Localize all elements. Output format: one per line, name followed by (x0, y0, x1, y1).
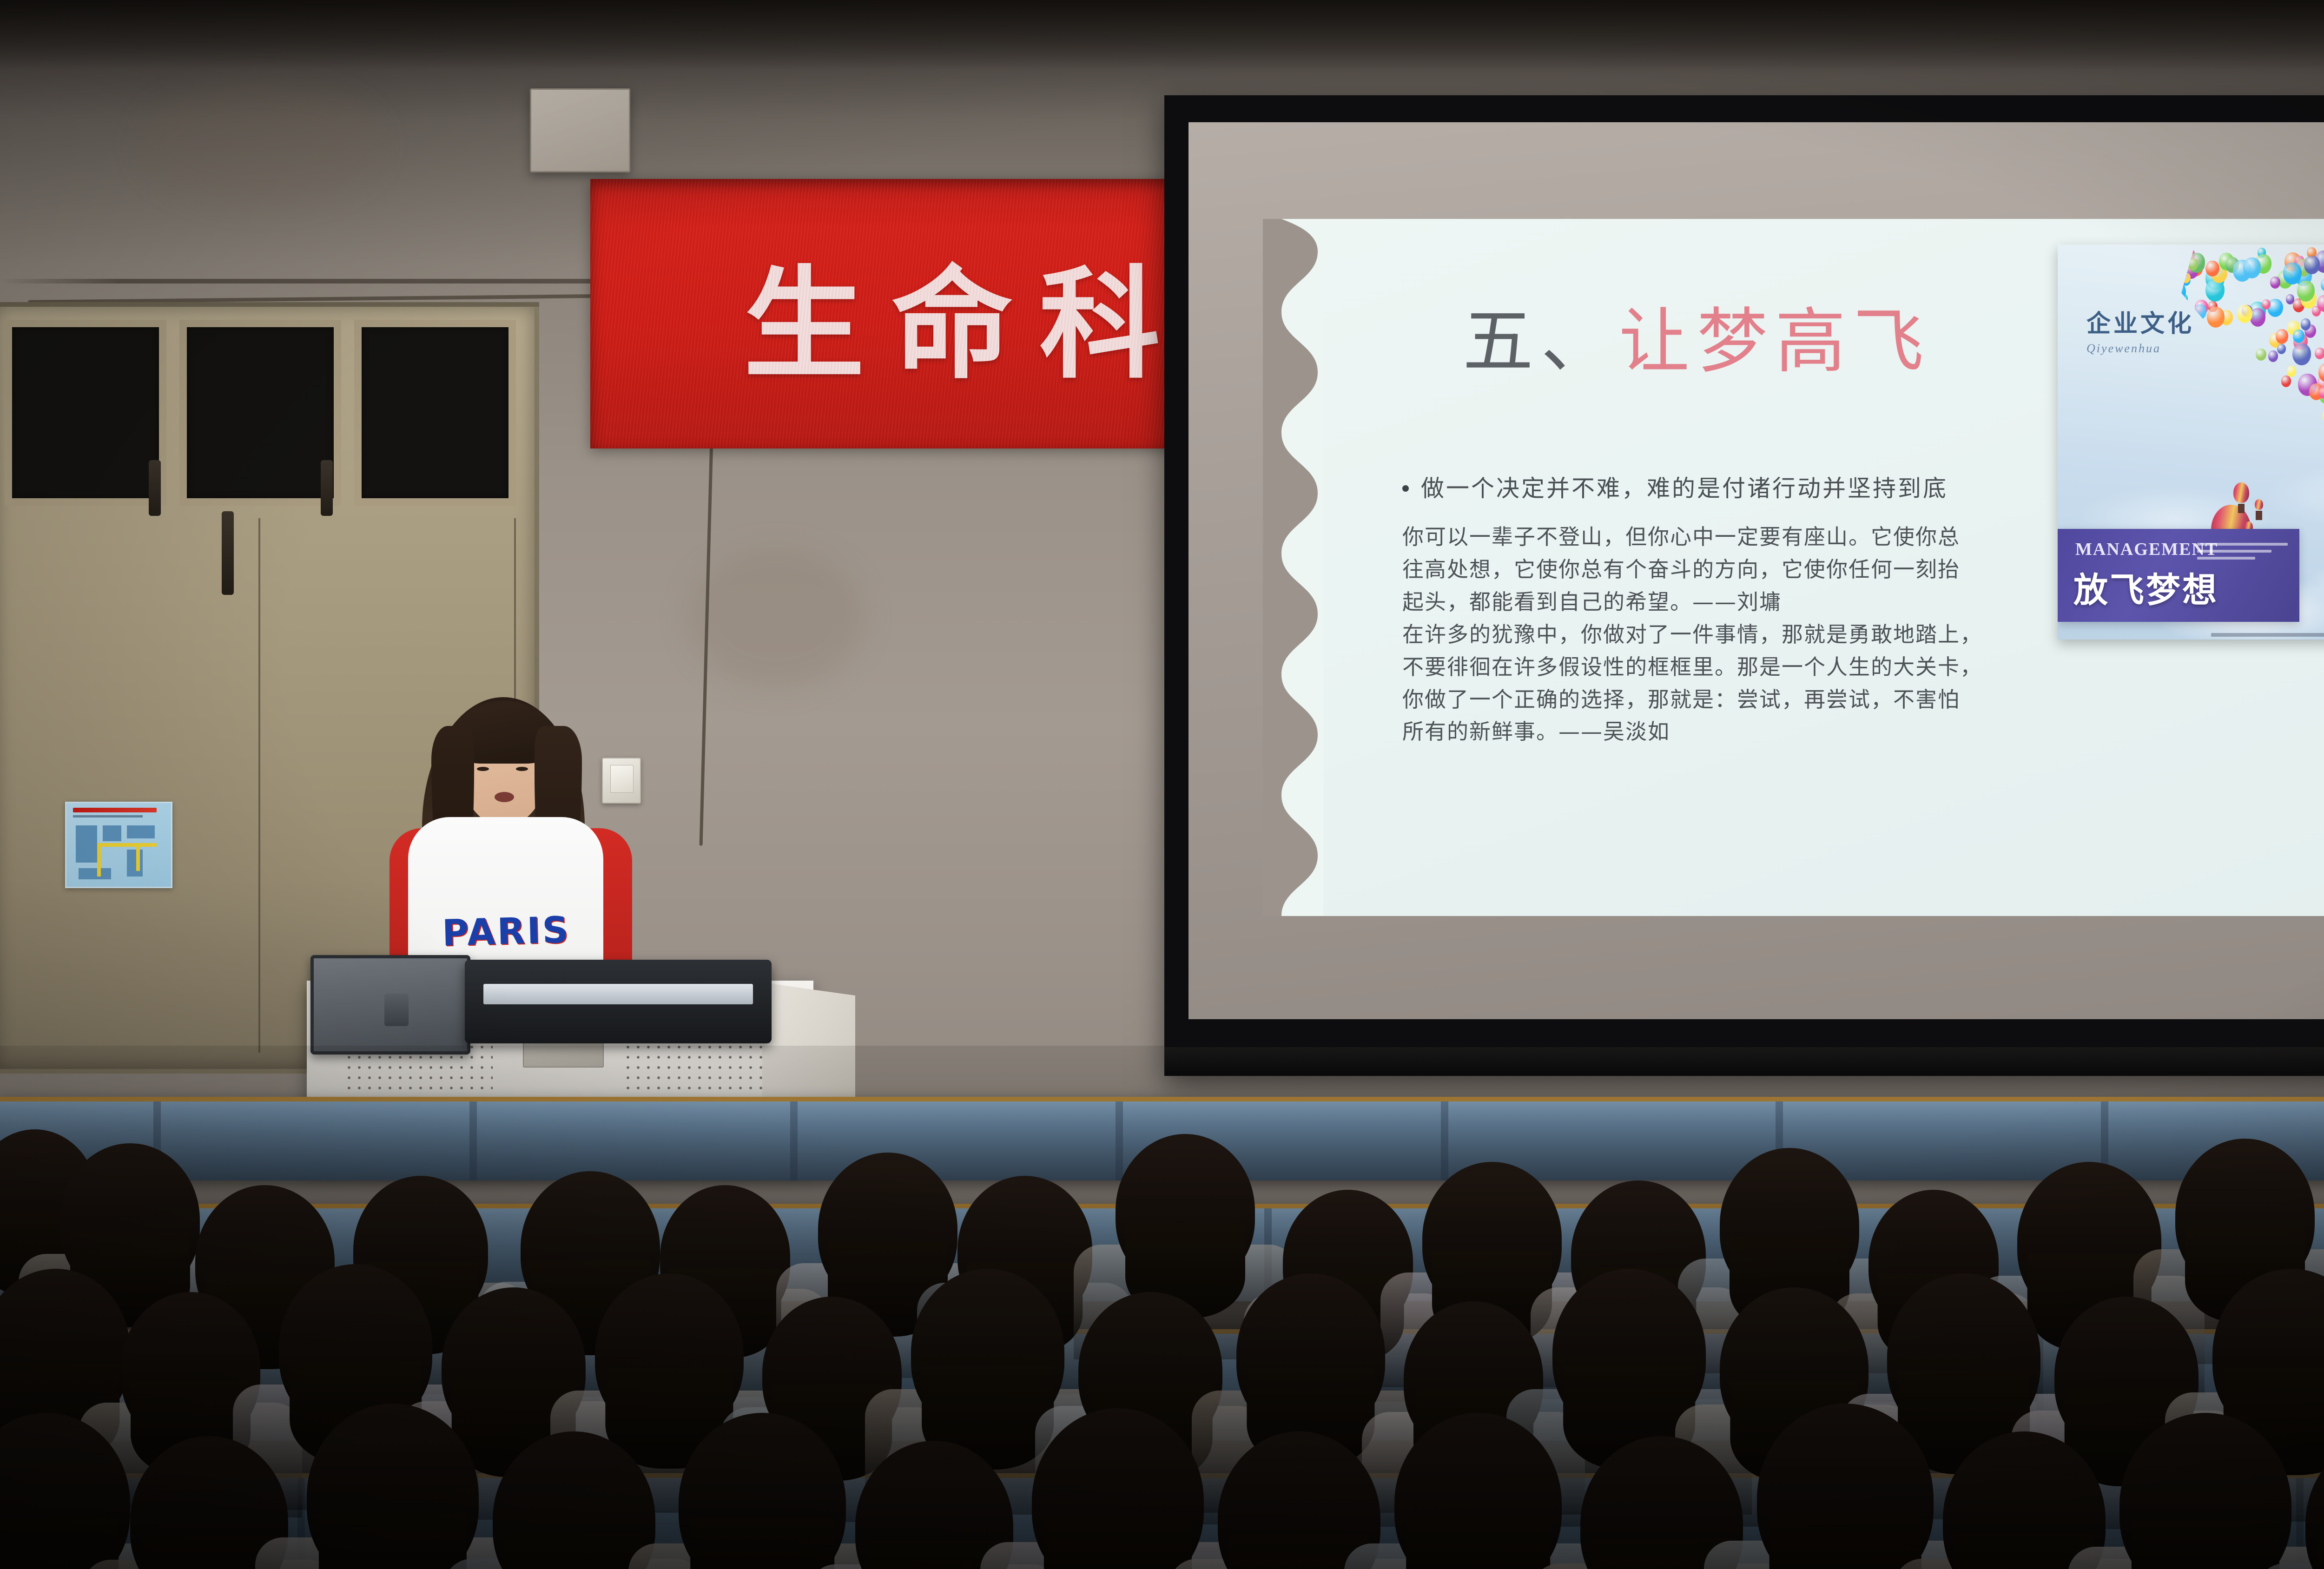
balloon (2182, 273, 2191, 283)
poster-banner-cn: 放飞梦想 (2073, 562, 2218, 612)
slide-paragraph-line: 你做了一个正确的选择，那就是：尝试，再尝试，不害怕 (1402, 684, 2192, 716)
balloon (2276, 329, 2288, 344)
balloon (2292, 343, 2311, 365)
balloon (2293, 330, 2304, 343)
evac-route (97, 843, 101, 877)
ceiling-vent (530, 88, 630, 172)
slide-paragraph-line: 不要徘徊在许多假设性的框框里。那是一个人生的大关卡， (1402, 651, 2192, 684)
balloon (2179, 294, 2188, 304)
balloon (2277, 344, 2286, 354)
bullet-dot-icon (1402, 485, 1409, 492)
audience-member-head (1422, 1162, 1562, 1315)
balloon (2157, 257, 2173, 277)
audience-member-hair (1769, 1514, 1921, 1569)
poster-banner: MANAGEMENT 放飞梦想 (2058, 529, 2299, 622)
audience-member-head (911, 1269, 1064, 1436)
balloon (2297, 281, 2315, 302)
poster-heading: 企业文化 Qiyewenhua (2086, 304, 2194, 356)
projection-surface: 五、让梦高飞 做一个决定并不难，难的是付诸行动并坚持到底 你可以一辈子不登山，但… (1188, 122, 2324, 1019)
slide-poster-image: 企业文化 Qiyewenhua MANAGEMENT 放飞梦想 (2058, 244, 2324, 639)
audience-member-head (1116, 1134, 1255, 1287)
balloon (2256, 349, 2266, 361)
balloon (2243, 257, 2261, 278)
slide-wavy-edge (1263, 219, 1323, 916)
audience-member-head (1236, 1273, 1385, 1436)
audience-member-hair (2132, 1521, 2279, 1569)
audience-member-hair (319, 1511, 467, 1569)
transom-window (354, 320, 516, 506)
lectern-control-monitor[interactable] (310, 955, 470, 1055)
evac-route (97, 843, 157, 847)
door-latch[interactable] (222, 511, 234, 595)
balloon (2170, 271, 2185, 289)
balloon (2321, 278, 2324, 291)
audience-member-head (818, 1153, 957, 1306)
slide-bullet-text: 做一个决定并不难，难的是付诸行动并坚持到底 (1421, 475, 1948, 502)
presenter-eye (477, 767, 489, 771)
balloon (2237, 305, 2252, 323)
balloon (2286, 294, 2294, 304)
ceiling-shadow (0, 0, 2324, 70)
slide-paragraph-line: 所有的新鲜事。——吴淡如 (1402, 716, 2192, 748)
sweatshirt-graphic-text: PARIS (439, 909, 573, 954)
audience-member-head (1887, 1273, 2040, 1441)
audience-area (0, 1069, 2324, 1569)
evac-block (127, 825, 155, 838)
window-latch[interactable] (149, 460, 161, 516)
audience-member-head (1552, 1269, 1706, 1436)
audience-member-hair (504, 1534, 644, 1569)
balloon (2315, 348, 2324, 360)
window-latch[interactable] (321, 460, 333, 516)
evac-block (79, 868, 111, 879)
evacuation-map (65, 802, 172, 888)
slide-title-number: 五、 (1463, 300, 1619, 382)
audience-member-hair (2317, 1538, 2324, 1569)
slide-title: 五、让梦高飞 (1463, 284, 1931, 386)
poster-bottom-caption (2211, 633, 2324, 637)
balloon (2262, 299, 2271, 310)
balloon (2205, 279, 2225, 302)
audience-member-hair (1044, 1516, 1192, 1569)
balloon (2301, 318, 2311, 330)
balloon (2281, 376, 2291, 387)
door-transom-windows (5, 320, 516, 506)
balloon (2207, 307, 2225, 328)
poster-heading-cn: 企业文化 (2086, 304, 2194, 339)
balloon (2304, 256, 2320, 274)
evac-block (76, 825, 97, 863)
balloon (2250, 308, 2266, 327)
audience-member-hair (1406, 1518, 1550, 1569)
balloon (2194, 304, 2207, 319)
lectern-presenter-monitor[interactable] (465, 960, 772, 1043)
audience-member-head (595, 1273, 744, 1436)
audience-member-head (1720, 1148, 1859, 1301)
evac-block (103, 825, 121, 841)
transom-window (5, 320, 166, 506)
door-leaf-left[interactable] (5, 518, 260, 1053)
balloon (2283, 263, 2302, 284)
presenter-eye (516, 767, 528, 771)
projection-screen: 五、让梦高飞 做一个决定并不难，难的是付诸行动并坚持到底 你可以一辈子不登山，但… (1164, 95, 2324, 1076)
transom-window (179, 320, 341, 506)
slide-bullet-line: 做一个决定并不难，难的是付诸行动并坚持到底 (1402, 470, 1948, 503)
hot-air-balloon-icon (2233, 482, 2249, 503)
evac-map-title-bar (73, 808, 157, 812)
balloon (2167, 274, 2179, 288)
poster-heading-pinyin: Qiyewenhua (2086, 342, 2194, 356)
balloon (2166, 276, 2185, 297)
lecture-hall-photo: 生命科学学 培训 幅士达 (0, 0, 2324, 1569)
audience-member-hair (690, 1518, 834, 1569)
evac-map-subtitle-bar (73, 815, 143, 817)
balloon (2168, 282, 2186, 303)
hot-air-balloon-icon (2255, 499, 2263, 510)
wall-stain (688, 548, 865, 688)
balloon (2287, 366, 2296, 377)
evac-block (127, 850, 143, 877)
presenter-mouth (495, 792, 514, 802)
balloon (2160, 257, 2176, 276)
wall-stain (139, 84, 381, 204)
slide-title-main: 让梦高飞 (1619, 300, 1931, 382)
poster-banner-detail-lines (2197, 543, 2288, 564)
presentation-slide: 五、让梦高飞 做一个决定并不难，难的是付诸行动并坚持到底 你可以一辈子不登山，但… (1263, 219, 2324, 916)
balloon (2268, 350, 2278, 362)
evac-route (136, 843, 140, 871)
balloon (2270, 277, 2280, 289)
